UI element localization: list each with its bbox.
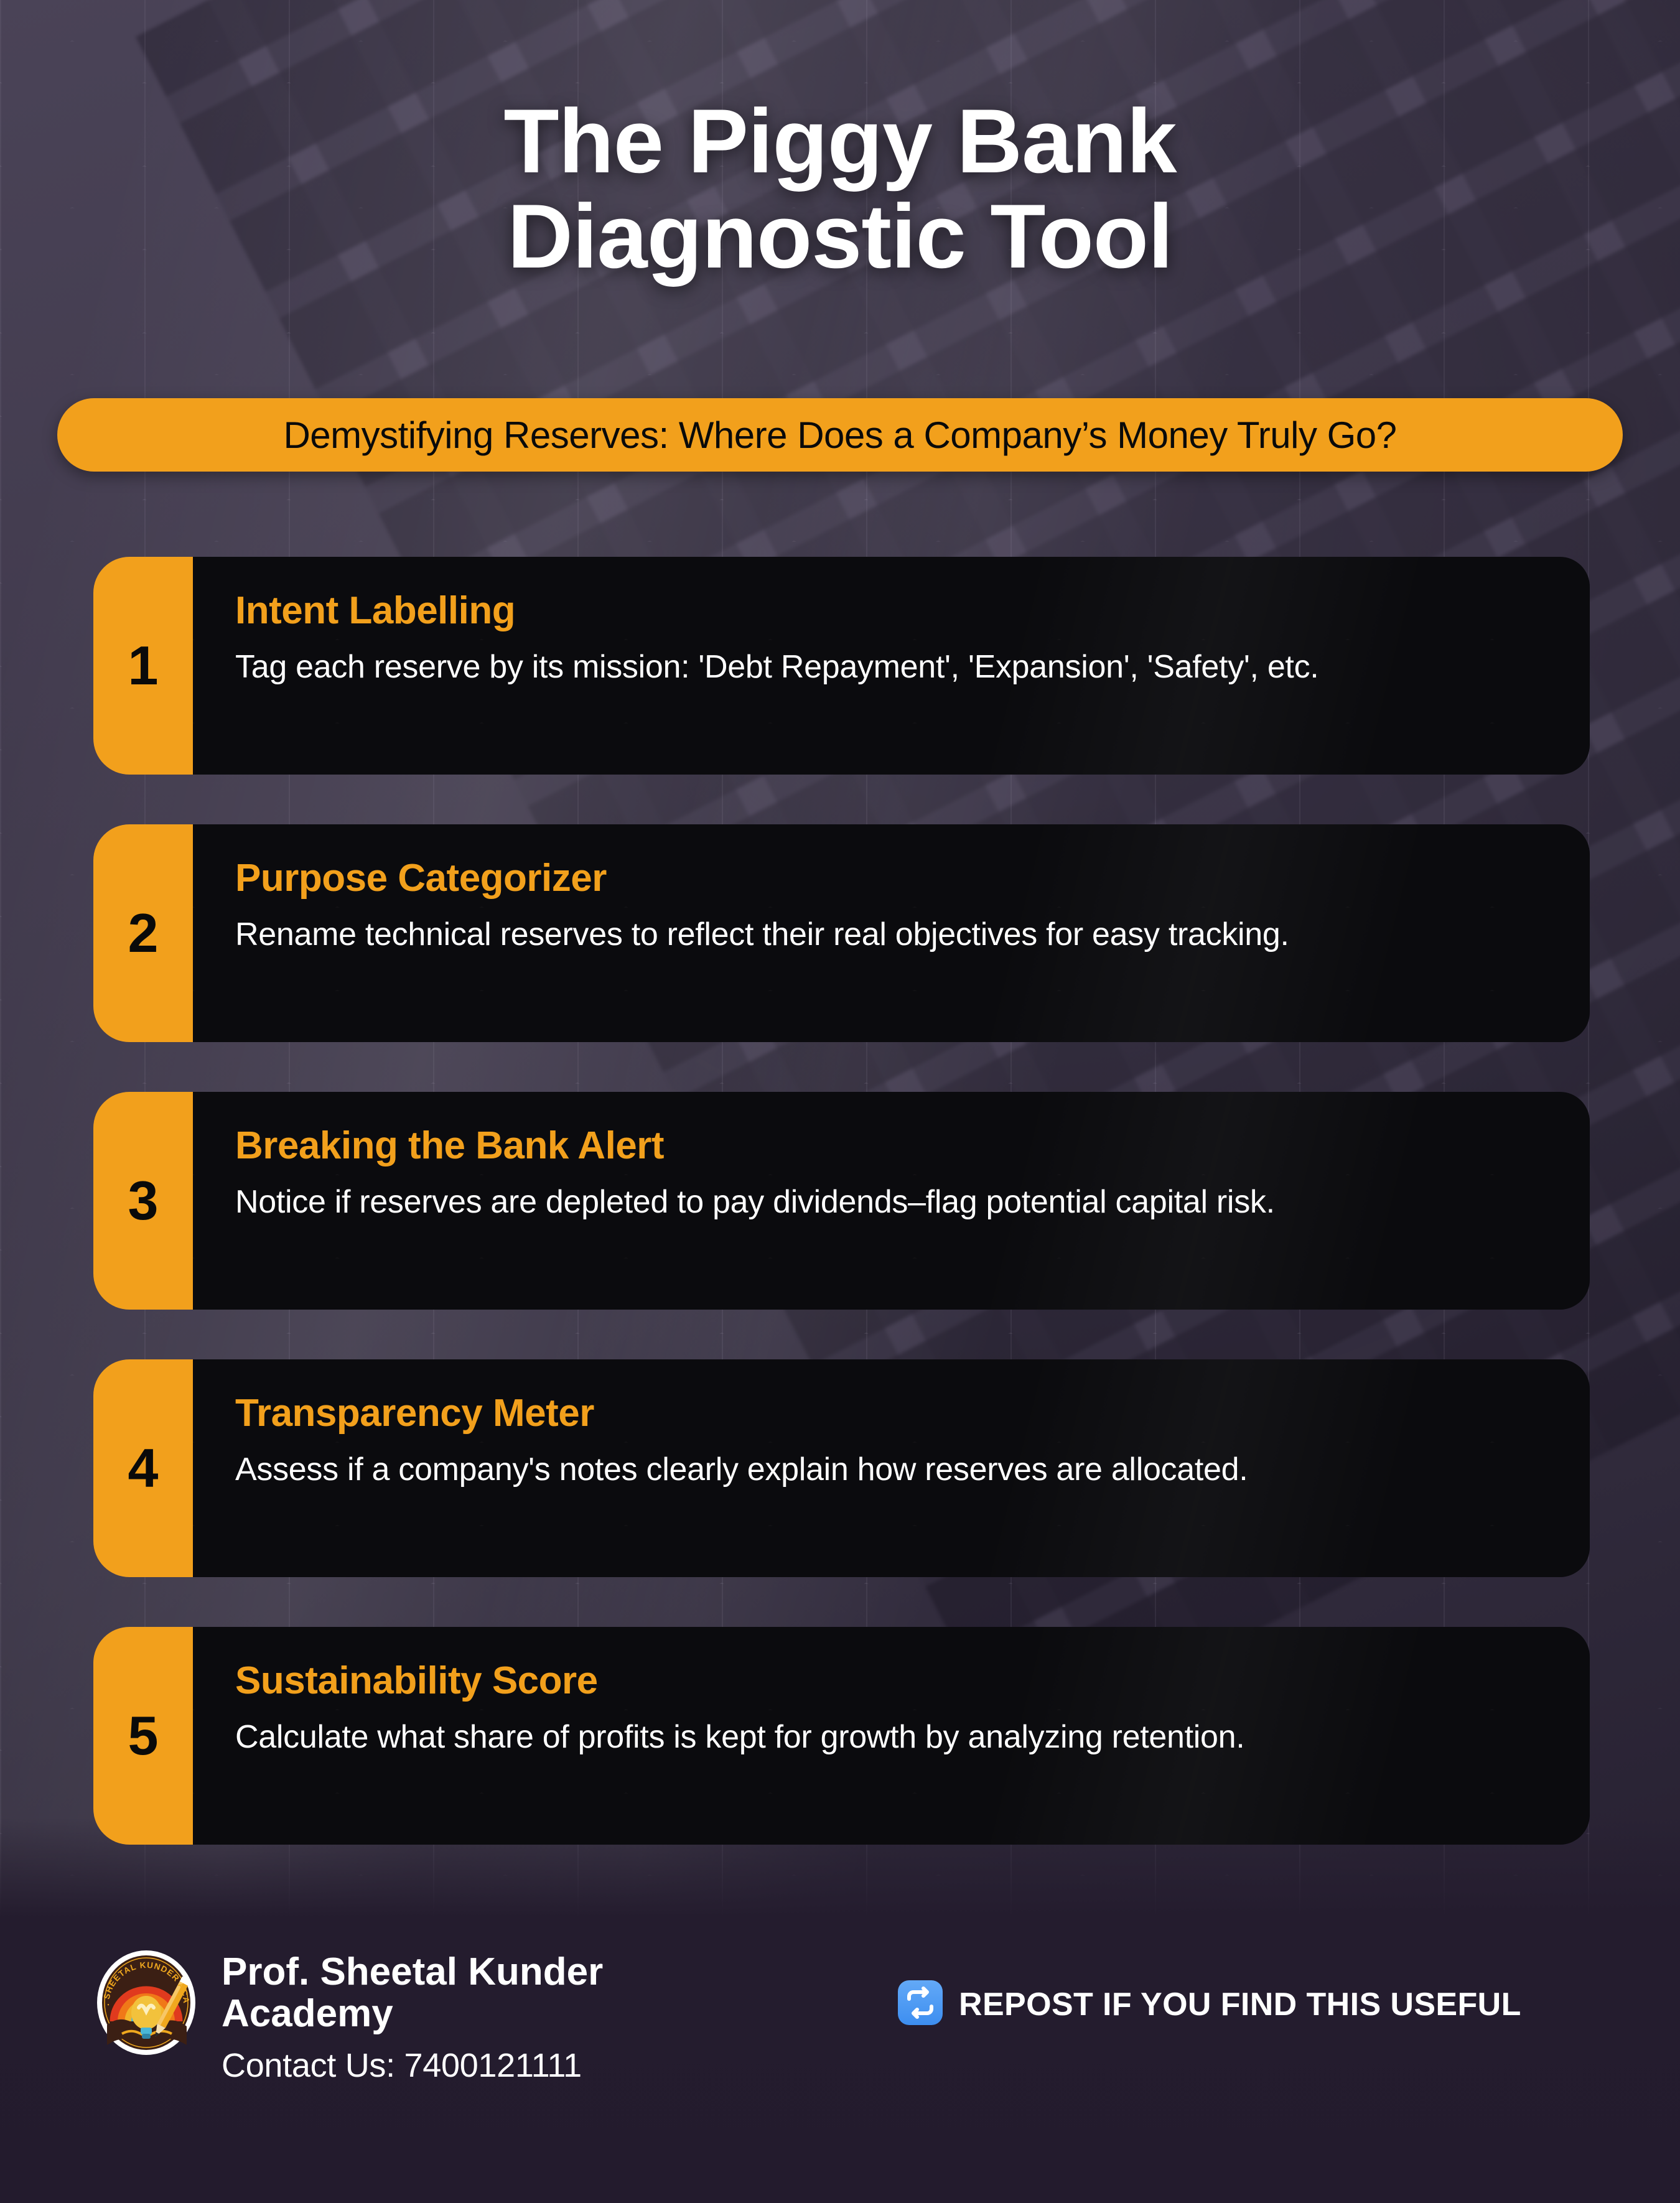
step-number: 4 <box>128 1437 159 1500</box>
step-description: Assess if a company's notes clearly expl… <box>235 1449 1498 1491</box>
list-item[interactable]: 1 Intent Labelling Tag each reserve by i… <box>93 557 1590 775</box>
list-item[interactable]: 5 Sustainability Score Calculate what sh… <box>93 1627 1590 1845</box>
list-item[interactable]: 4 Transparency Meter Assess if a company… <box>93 1359 1590 1577</box>
subtitle-text: Demystifying Reserves: Where Does a Comp… <box>283 414 1396 457</box>
academy-logo-icon: PROF. SHEETAL KUNDER ACADEMY <box>93 1945 199 2056</box>
contact-info: Contact Us: 7400121111 <box>222 2046 694 2085</box>
repost-callout[interactable]: REPOST IF YOU FIND THIS USEFUL <box>898 1980 1526 2026</box>
step-number-badge: 1 <box>93 557 193 775</box>
brand-text-block: Prof. Sheetal Kunder Academy Contact Us:… <box>222 1945 694 2085</box>
step-description: Calculate what share of profits is kept … <box>235 1716 1498 1759</box>
step-content: Sustainability Score Calculate what shar… <box>193 1627 1590 1845</box>
list-item[interactable]: 3 Breaking the Bank Alert Notice if rese… <box>93 1092 1590 1310</box>
step-title: Sustainability Score <box>235 1662 1546 1700</box>
step-title: Breaking the Bank Alert <box>235 1127 1546 1165</box>
step-number-badge: 5 <box>93 1627 193 1845</box>
step-number: 5 <box>128 1704 159 1768</box>
brand-block: PROF. SHEETAL KUNDER ACADEMY Prof. Sheet… <box>93 1945 694 2085</box>
step-description: Rename technical reserves to reflect the… <box>235 914 1498 956</box>
step-title: Purpose Categorizer <box>235 859 1546 898</box>
step-title: Transparency Meter <box>235 1394 1546 1433</box>
subtitle-banner: Demystifying Reserves: Where Does a Comp… <box>57 398 1623 472</box>
step-content: Purpose Categorizer Rename technical res… <box>193 824 1590 1042</box>
list-item[interactable]: 2 Purpose Categorizer Rename technical r… <box>93 824 1590 1042</box>
step-number-badge: 2 <box>93 824 193 1042</box>
step-number: 1 <box>128 634 159 697</box>
repost-icon <box>898 1980 943 2025</box>
infographic-poster: The Piggy Bank Diagnostic Tool Demystify… <box>0 0 1680 2203</box>
step-title: Intent Labelling <box>235 592 1546 630</box>
page-title: The Piggy Bank Diagnostic Tool <box>0 93 1680 284</box>
page-title-line-2: Diagnostic Tool <box>0 189 1680 284</box>
step-content: Breaking the Bank Alert Notice if reserv… <box>193 1092 1590 1310</box>
step-content: Intent Labelling Tag each reserve by its… <box>193 557 1590 775</box>
footer: PROF. SHEETAL KUNDER ACADEMY Prof. Sheet… <box>0 1932 1680 2181</box>
step-number: 3 <box>128 1169 159 1232</box>
brand-name: Prof. Sheetal Kunder Academy <box>222 1952 694 2035</box>
repost-label: REPOST IF YOU FIND THIS USEFUL <box>959 1986 1521 2023</box>
steps-list: 1 Intent Labelling Tag each reserve by i… <box>0 557 1680 1894</box>
step-number: 2 <box>128 901 159 965</box>
step-number-badge: 4 <box>93 1359 193 1577</box>
step-number-badge: 3 <box>93 1092 193 1310</box>
academy-logo: PROF. SHEETAL KUNDER ACADEMY <box>93 1945 199 2056</box>
step-description: Tag each reserve by its mission: 'Debt R… <box>235 646 1498 689</box>
page-title-line-1: The Piggy Bank <box>503 90 1176 192</box>
step-description: Notice if reserves are depleted to pay d… <box>235 1181 1498 1224</box>
step-content: Transparency Meter Assess if a company's… <box>193 1359 1590 1577</box>
